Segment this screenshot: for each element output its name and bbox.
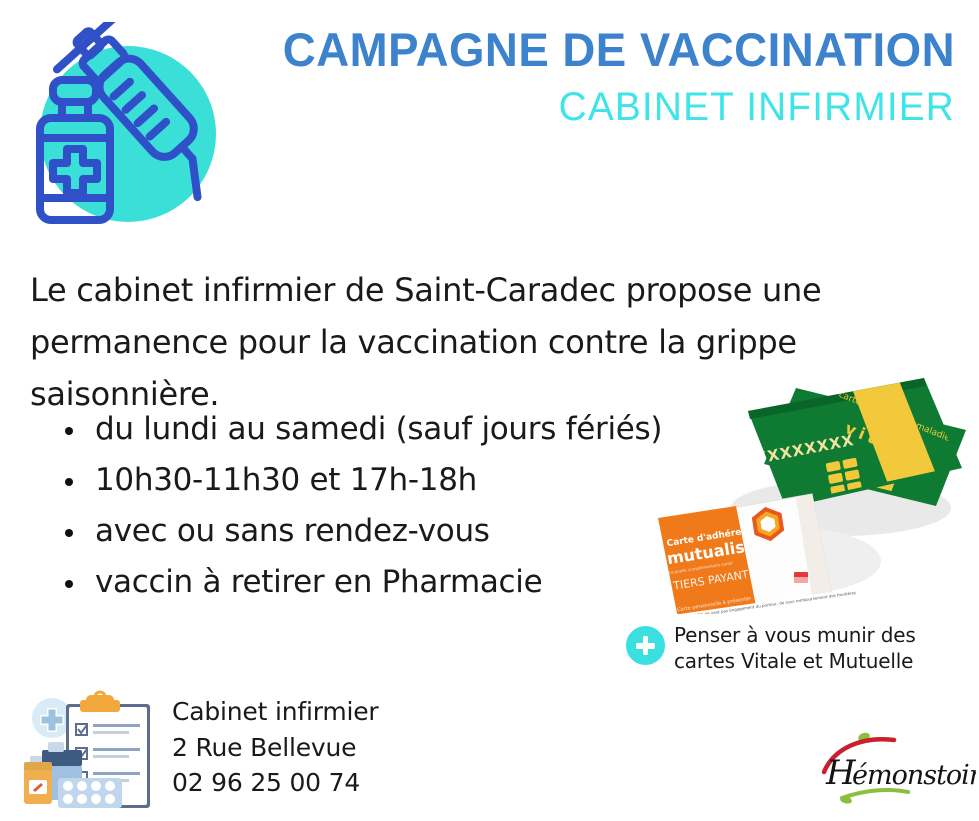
list-item: 10h30-11h30 et 17h-18h (62, 465, 662, 496)
intro-line-1: Le cabinet infirmier de Saint-Caradec pr… (30, 264, 951, 316)
list-item: avec ou sans rendez-vous (62, 516, 662, 547)
contact-name: Cabinet infirmier (172, 694, 379, 730)
list-item-label: avec ou sans rendez-vous (95, 513, 490, 549)
list-item: vaccin à retirer en Pharmacie (62, 567, 662, 598)
title-block: CAMPAGNE DE VACCINATION CABINET INFIRMIE… (235, 24, 955, 131)
page-subtitle: CABINET INFIRMIER (257, 84, 955, 131)
clipboard-medication-icon (14, 690, 166, 816)
list-item-label: du lundi au samedi (sauf jours fériés) (95, 411, 662, 447)
contact-address: 2 Rue Bellevue (172, 730, 379, 766)
page-title: CAMPAGNE DE VACCINATION (257, 24, 955, 77)
schedule-bullet-list: du lundi au samedi (sauf jours fériés) 1… (62, 414, 662, 618)
reminder-note-text: Penser à vous munir des cartes Vitale et… (674, 622, 966, 675)
contact-phone: 02 96 25 00 74 (172, 765, 379, 801)
list-item-label: vaccin à retirer en Pharmacie (95, 564, 542, 600)
health-insurance-cards-photo: XXXXXXXX carte d'assurance maladie vital… (636, 356, 979, 614)
list-item: du lundi au samedi (sauf jours fériés) (62, 414, 662, 445)
svg-text:émonstoir: émonstoir (852, 760, 976, 791)
reminder-note: Penser à vous munir des cartes Vitale et… (626, 622, 966, 677)
reminder-line-2: cartes Vitale et Mutuelle (674, 648, 966, 674)
plus-badge-icon (626, 626, 665, 665)
reminder-line-1: Penser à vous munir des (674, 622, 966, 648)
list-item-label: 10h30-11h30 et 17h-18h (95, 462, 477, 498)
poster-header: CAMPAGNE DE VACCINATION CABINET INFIRMIE… (0, 0, 979, 245)
syringe-vial-icon (18, 22, 233, 227)
contact-block: Cabinet infirmier 2 Rue Bellevue 02 96 2… (172, 694, 379, 801)
hemonstoir-brand-logo: H émonstoir (816, 726, 976, 812)
poster-root: CAMPAGNE DE VACCINATION CABINET INFIRMIE… (0, 0, 979, 821)
